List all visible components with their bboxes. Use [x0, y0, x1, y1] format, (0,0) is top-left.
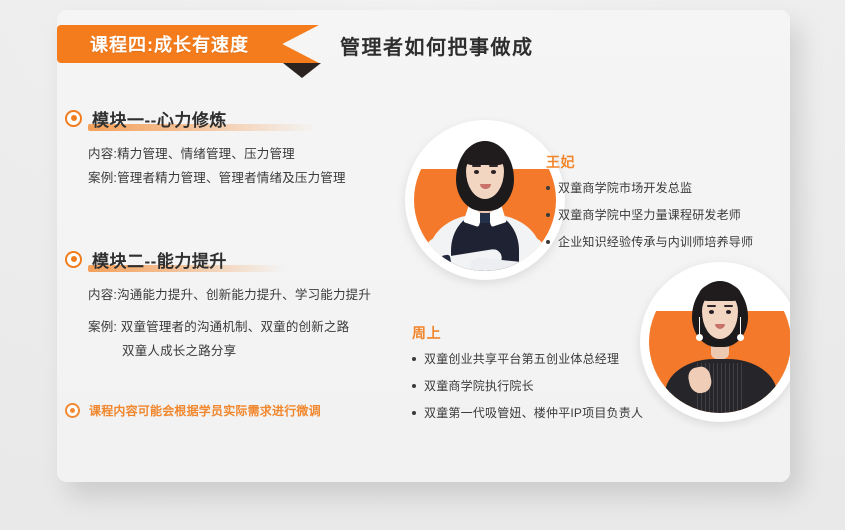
portrait-eye-right	[726, 310, 731, 314]
module-title: 模块一--心力修炼	[92, 111, 227, 130]
module-heading: 模块一--心力修炼	[65, 105, 405, 131]
portrait-brow-left	[472, 165, 481, 167]
module-title: 模块二--能力提升	[92, 252, 227, 271]
ribbon-shape: 课程四:成长有速度	[57, 25, 319, 63]
portrait-eye-right	[491, 170, 496, 174]
bio-text: 企业知识经验传承与内训师培养导师	[558, 233, 753, 251]
list-item: 企业知识经验传承与内训师培养导师	[546, 233, 753, 251]
person-info: 周上 双童创业共享平台第五创业体总经理 双童商学院执行院长 双童第一代吸管妞、楼…	[412, 323, 643, 431]
module-lines: 内容:精力管理、情绪管理、压力管理 案例:管理者精力管理、管理者情绪及压力管理	[65, 142, 405, 190]
module-title-box: 模块一--心力修炼	[92, 106, 227, 131]
ring-bullet-icon	[65, 110, 82, 127]
module-line: 内容:沟通能力提升、创新能力提升、学习能力提升	[88, 283, 405, 307]
module-line: 案例:管理者精力管理、管理者情绪及压力管理	[88, 166, 405, 190]
avatar	[640, 262, 790, 422]
bullet-dot-icon	[546, 186, 550, 190]
module-title-box: 模块二--能力提升	[92, 247, 227, 272]
bio-text: 双童第一代吸管妞、楼仲平IP项目负责人	[424, 404, 643, 422]
ring-bullet-icon	[65, 403, 80, 418]
portrait-fringe	[463, 143, 507, 165]
bullet-dot-icon	[412, 411, 416, 415]
modules-column: 模块一--心力修炼 内容:精力管理、情绪管理、压力管理 案例:管理者精力管理、管…	[65, 105, 405, 391]
avatar-image	[414, 129, 556, 271]
page-title: 管理者如何把事做成	[340, 26, 534, 64]
list-item: 双童商学院市场开发总监	[546, 179, 753, 197]
footnote-text: 课程内容可能会根据学员实际需求进行微调	[89, 402, 321, 419]
avatar-image	[649, 271, 790, 413]
portrait-earring-right	[737, 334, 744, 341]
portrait-fringe	[699, 283, 741, 301]
module-line: 案例: 双童管理者的沟通机制、双童的创新之路	[88, 315, 405, 339]
person-name: 周上	[412, 323, 643, 343]
module-block: 模块二--能力提升 内容:沟通能力提升、创新能力提升、学习能力提升 案例: 双童…	[65, 246, 405, 363]
bullet-dot-icon	[412, 384, 416, 388]
footnote: 课程内容可能会根据学员实际需求进行微调	[65, 402, 321, 419]
list-item: 双童商学院中坚力量课程研发老师	[546, 206, 753, 224]
module-line: 双童人成长之路分享	[88, 339, 405, 363]
portrait-cuff-right	[519, 261, 530, 271]
person-info: 王妃 双童商学院市场开发总监 双童商学院中坚力量课程研发老师 企业知识经验传承与…	[546, 152, 753, 260]
bullet-dot-icon	[546, 213, 550, 217]
module-lines: 内容:沟通能力提升、创新能力提升、学习能力提升 案例: 双童管理者的沟通机制、双…	[65, 283, 405, 363]
ribbon-label: 课程四:成长有速度	[57, 31, 249, 57]
ring-bullet-icon	[65, 251, 82, 268]
bio-text: 双童商学院执行院长	[424, 377, 534, 395]
portrait-brow-left	[707, 305, 716, 307]
module-line: 内容:精力管理、情绪管理、压力管理	[88, 142, 405, 166]
slide-card: 课程四:成长有速度 管理者如何把事做成 模块一--心力修炼 内容:精力管理、情绪…	[57, 10, 790, 482]
bullet-dot-icon	[412, 357, 416, 361]
slide-canvas: 课程四:成长有速度 管理者如何把事做成 模块一--心力修炼 内容:精力管理、情绪…	[0, 0, 845, 530]
bio-text: 双童商学院市场开发总监	[558, 179, 692, 197]
person-name: 王妃	[546, 152, 753, 172]
portrait-brow-right	[724, 305, 733, 307]
portrait-earring-left	[696, 334, 703, 341]
module-block: 模块一--心力修炼 内容:精力管理、情绪管理、压力管理 案例:管理者精力管理、管…	[65, 105, 405, 190]
portrait-eye-left	[709, 310, 714, 314]
list-item: 双童创业共享平台第五创业体总经理	[412, 350, 643, 368]
ribbon-fold-triangle	[283, 63, 321, 78]
bio-text: 双童商学院中坚力量课程研发老师	[558, 206, 741, 224]
portrait-earring-stem-left	[699, 317, 700, 335]
list-item: 双童第一代吸管妞、楼仲平IP项目负责人	[412, 404, 643, 422]
bullet-dot-icon	[546, 240, 550, 244]
portrait-brow-right	[489, 165, 498, 167]
bio-text: 双童创业共享平台第五创业体总经理	[424, 350, 619, 368]
module-heading: 模块二--能力提升	[65, 246, 405, 272]
list-item: 双童商学院执行院长	[412, 377, 643, 395]
portrait-earring-stem-right	[740, 317, 741, 335]
portrait-eye-left	[474, 170, 479, 174]
avatar	[405, 120, 565, 280]
